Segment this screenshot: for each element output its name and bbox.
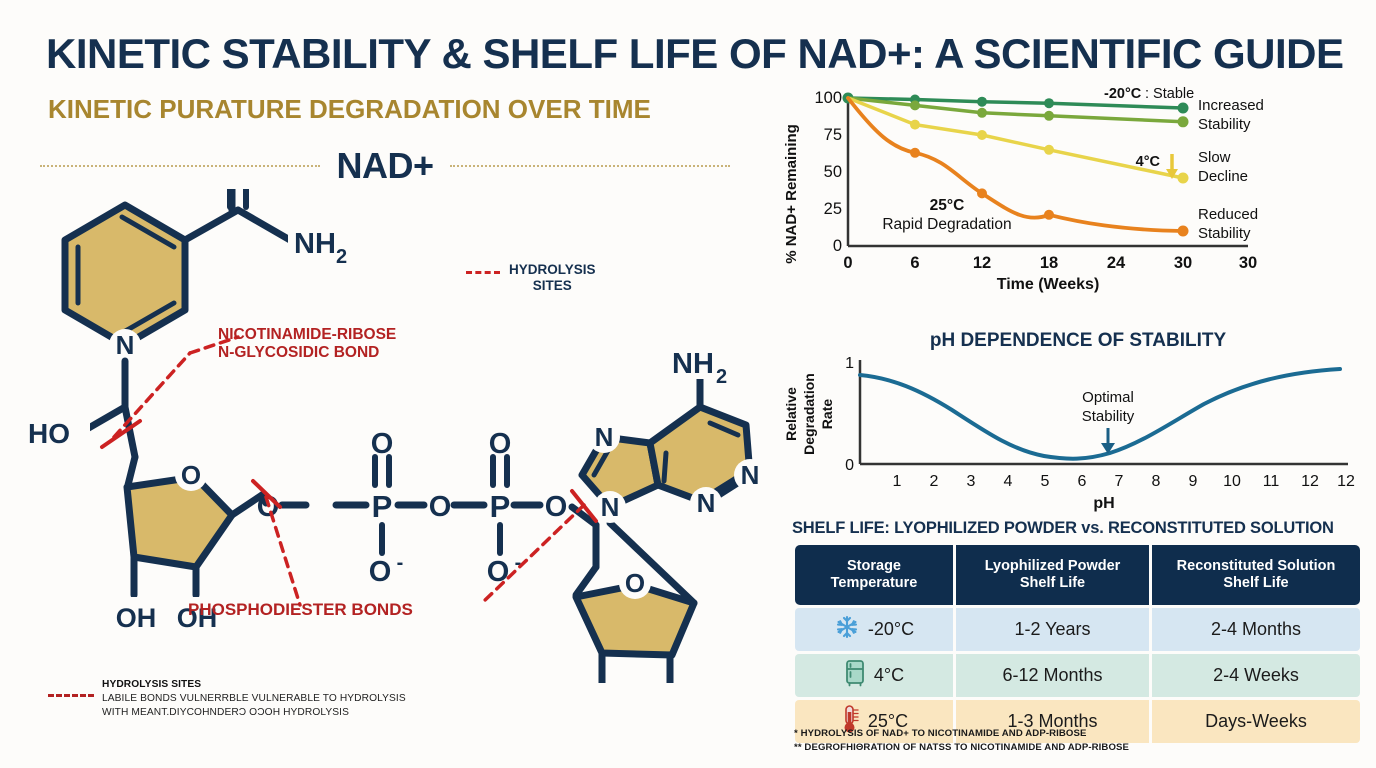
shelf-life-table: Storage Temperature Lyophilized Powder S… — [792, 542, 1363, 746]
chart2-xtick-1: 1 — [893, 473, 902, 490]
chart1-annotation-slow-line2: Decline — [1198, 168, 1248, 185]
atom-nh2-adenine-subscript: 2 — [716, 366, 727, 388]
chart2-annotation-optimal-line2: Stability — [1082, 408, 1135, 425]
legend-hydrolysis-label: HYDROLYSIS SITES — [509, 262, 596, 294]
chart1-xtick-24: 24 — [1107, 254, 1126, 272]
chart2-xtick-5: 5 — [1041, 473, 1050, 490]
atom-o-ribose-1: O — [181, 460, 201, 490]
atom-o-carbonyl: O — [226, 185, 249, 190]
atom-n9-adenine: N — [601, 492, 620, 522]
callout-phosphodiester-bonds: PHOSPHODIESTER BONDS — [188, 600, 413, 620]
atom-p-1: P — [372, 489, 393, 524]
chart2-y-axis-label-line3: Rate — [819, 399, 835, 430]
footer-hydrolysis-text: HYDROLYSIS SITES LABILE BONDS VULNERRBLE… — [102, 678, 406, 719]
header-storage-line1: Storage — [847, 558, 901, 574]
atom-o-p2-top: O — [489, 428, 512, 460]
chart2-xtick-10: 10 — [1223, 473, 1241, 490]
shelf-life-table-title: SHELF LIFE: LYOPHILIZED POWDER vs. RECON… — [792, 519, 1376, 538]
footer-hydrolysis-legend: HYDROLYSIS SITES LABILE BONDS VULNERRBLE… — [48, 678, 406, 719]
atom-n3-adenine: N — [697, 488, 716, 518]
chart1-xtick-6: 6 — [910, 254, 919, 272]
table-footnotes: * HYDROLYSIS OF NAD+ TO NICOTINAMIDE AND… — [794, 727, 1129, 755]
chart2-xtick-9: 9 — [1189, 473, 1198, 490]
callout-nicotinamide-line2: N-GLYCOSIDIC BOND — [218, 344, 396, 362]
chart2-xtick-11: 11 — [1263, 473, 1280, 490]
chart1-annotation-increased-line1: Increased — [1198, 97, 1264, 114]
atom-nh2-nicotinamide: NH — [294, 228, 336, 260]
chart1-xtick-30: 30 — [1174, 254, 1192, 272]
chart1-ytick-75: 75 — [824, 126, 842, 144]
cell-powder-shelf-life: 6-12 Months — [956, 654, 1149, 697]
atom-n7-adenine: N — [595, 422, 614, 452]
page-subtitle: KINETIC PURATURE DEGRADATION OVER TIME — [48, 96, 651, 122]
chart2-x-axis-label: pH — [1093, 495, 1114, 512]
atom-o-p1-charge: - — [397, 552, 404, 574]
footer-hydrolysis-heading: HYDROLYSIS SITES — [102, 679, 201, 690]
chart1-ytick-50: 50 — [824, 163, 842, 181]
chart1-annotation-increased-line2: Stability — [1198, 116, 1251, 133]
ph-dependence-chart: Relative Degradation Rate 1 0 Optimal St… — [780, 352, 1376, 512]
footer-hydrolysis-line2: WITH MEANT.DIYCOHNDERƆ OƆOH HYDROLYSIS — [102, 707, 349, 718]
chart1-annotation-reduced-line1: Reduced — [1198, 206, 1258, 223]
chart1-x-axis-label: Time (Weeks) — [997, 276, 1100, 293]
chart1-xtick-30b: 30 — [1239, 254, 1257, 272]
footer-hydrolysis-line1: LABILE BONDS VULNERRBLE VULNERABLE TO HY… — [102, 693, 406, 704]
dashed-line-icon-footer — [48, 694, 94, 697]
chart1-annotation-minus20-bold: -20°C — [1104, 86, 1142, 102]
chart2-xtick-12b: 12 — [1337, 473, 1355, 490]
chart1-ytick-25: 25 — [824, 200, 842, 218]
header-storage-line2: Temperature — [831, 575, 918, 591]
legend-hydrolysis-line1: HYDROLYSIS — [509, 262, 596, 277]
chart2-xtick-7: 7 — [1115, 473, 1124, 490]
atom-p-2: P — [490, 489, 511, 524]
legend-hydrolysis-sites: HYDROLYSIS SITES — [466, 262, 596, 294]
table-header-reconstituted-solution: Reconstituted Solution Shelf Life — [1152, 545, 1360, 605]
legend-hydrolysis-line2: SITES — [533, 278, 572, 293]
refrigerator-icon — [844, 659, 866, 692]
chart1-xtick-12: 12 — [973, 254, 991, 272]
chart2-ytick-0: 0 — [845, 457, 854, 474]
cell-storage-temperature: -20°C — [795, 608, 953, 651]
temperature-value: 4°C — [874, 665, 904, 686]
molecule-name: NAD+ — [336, 145, 433, 187]
chart2-ytick-1: 1 — [845, 355, 854, 372]
table-header-row: Storage Temperature Lyophilized Powder S… — [795, 545, 1360, 605]
cell-powder-shelf-life: 1-2 Years — [956, 608, 1149, 651]
cell-solution-shelf-life: 2-4 Weeks — [1152, 654, 1360, 697]
chart2-xtick-4: 4 — [1004, 473, 1013, 490]
divider-right — [450, 165, 730, 167]
atom-n1-adenine: N — [741, 460, 760, 490]
atom-nh2-nicotinamide-subscript: 2 — [336, 246, 347, 268]
degradation-over-time-chart: % NAD+ Remaining 100 75 50 25 0 — [780, 86, 1376, 314]
chart2-xtick-12: 12 — [1301, 473, 1319, 490]
chart1-annotation-25c-line1: 25°C — [930, 197, 965, 214]
chart2-y-axis-label-line2: Degradation — [801, 373, 817, 455]
ph-chart-title: pH DEPENDENCE OF STABILITY — [780, 330, 1376, 352]
chart1-annotation-25c-line2: Rapid Degradation — [882, 216, 1011, 233]
atom-oh-a: OH — [116, 603, 157, 633]
header-powder-line1: Lyophilized Powder — [985, 558, 1121, 574]
chart2-annotation-optimal-line1: Optimal — [1082, 389, 1134, 406]
atom-o-bridge: O — [429, 491, 452, 523]
cell-storage-temperature: 4°C — [795, 654, 953, 697]
temperature-value: -20°C — [868, 619, 914, 640]
table-header-lyophilized-powder: Lyophilized Powder Shelf Life — [956, 545, 1149, 605]
atom-o-p1-bottom: O — [369, 556, 392, 588]
chart1-annotation-slow-line1: Slow — [1198, 149, 1231, 166]
chart1-ytick-100: 100 — [814, 89, 842, 107]
chart1-annotation-reduced-line2: Stability — [1198, 225, 1251, 242]
chart2-xtick-2: 2 — [930, 473, 939, 490]
atom-nh2-adenine: NH — [672, 348, 714, 380]
snowflake-icon — [834, 614, 860, 645]
callout-nicotinamide-ribose: NICOTINAMIDE-RIBOSE N-GLYCOSIDIC BOND — [218, 326, 396, 362]
atom-ho: HO — [28, 418, 70, 449]
chart2-xtick-3: 3 — [967, 473, 976, 490]
chart2-y-axis-label-line1: Relative — [783, 387, 799, 441]
chart1-annotation-4c: 4°C — [1136, 154, 1161, 170]
table-row: -20°C 1-2 Years 2-4 Months — [795, 608, 1360, 651]
divider-left — [40, 165, 320, 167]
cell-solution-shelf-life: Days-Weeks — [1152, 700, 1360, 743]
chart2-xtick-8: 8 — [1152, 473, 1161, 490]
right-column: % NAD+ Remaining 100 75 50 25 0 — [780, 0, 1376, 768]
atom-o-link-2: O — [545, 491, 568, 523]
atom-o-p1-top: O — [371, 428, 394, 460]
dashed-line-icon — [466, 271, 500, 274]
callout-nicotinamide-line1: NICOTINAMIDE-RIBOSE — [218, 326, 396, 344]
atom-o-p2-bottom: O — [487, 556, 510, 588]
table-row: 4°C 6-12 Months 2-4 Weeks — [795, 654, 1360, 697]
header-solution-line2: Shelf Life — [1223, 575, 1288, 591]
table-header-storage-temperature: Storage Temperature — [795, 545, 953, 605]
chart1-annotation-minus20-rest: : Stable — [1145, 86, 1194, 102]
chart1-xtick-18: 18 — [1040, 254, 1058, 272]
chart1-y-axis-label: % NAD+ Remaining — [783, 124, 800, 264]
chart1-ytick-0: 0 — [833, 237, 842, 255]
atom-o-ribose-2: O — [625, 568, 645, 598]
chart2-xtick-6: 6 — [1078, 473, 1087, 490]
footnote-line1: * HYDROLYSIS OF NAD+ TO NICOTINAMIDE AND… — [794, 727, 1129, 741]
header-solution-line1: Reconstituted Solution — [1177, 558, 1336, 574]
chart1-xtick-0: 0 — [843, 254, 852, 272]
shelf-life-table-wrapper: Storage Temperature Lyophilized Powder S… — [792, 542, 1348, 746]
cell-solution-shelf-life: 2-4 Months — [1152, 608, 1360, 651]
atom-n-pyridine: N — [116, 330, 135, 360]
footnote-line2: ** DEGROFHIΘRATION OF NATSS TO NICOTINAM… — [794, 741, 1129, 755]
header-powder-line2: Shelf Life — [1020, 575, 1085, 591]
